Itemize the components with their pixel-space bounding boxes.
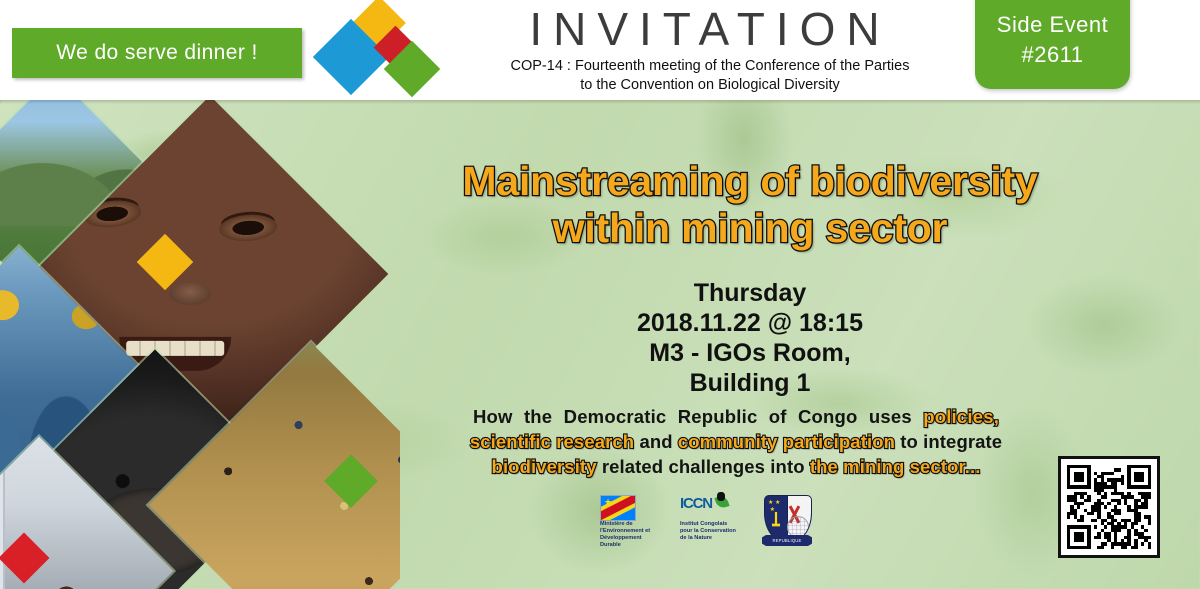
- shield-crest-logo: ★ ★ ★ REPUBLIQUE: [764, 495, 810, 549]
- event-title-line1: Mainstreaming of biodiversity: [370, 158, 1130, 205]
- iccn-mark-icon: ICCN: [680, 495, 726, 521]
- side-event-number: #2611: [1021, 40, 1083, 70]
- highlight-biodiversity: biodiversity: [492, 456, 597, 477]
- torch-icon: [772, 512, 780, 532]
- description-line-2: scientific research and community partic…: [400, 429, 1072, 454]
- cop-subtitle: COP-14 : Fourteenth meeting of the Confe…: [420, 57, 1000, 95]
- gorilla-icon: [717, 492, 725, 501]
- cop-subtitle-line2: to the Convention on Biological Diversit…: [420, 76, 1000, 95]
- highlight-policies: policies,: [923, 406, 999, 427]
- description-line-3: biodiversity related challenges into the…: [400, 454, 1072, 479]
- partner-logos: Ministère de l'Environnement et Développ…: [600, 495, 860, 557]
- invitation-heading: INVITATION: [500, 4, 920, 54]
- cop-subtitle-line1: COP-14 : Fourteenth meeting of the Confe…: [420, 57, 1000, 76]
- description-line-1: How the Democratic Republic of Congo use…: [400, 404, 1072, 429]
- drc-ministry-caption: Ministère de l'Environnement et Développ…: [600, 521, 664, 549]
- event-room: M3 - IGOs Room,: [420, 338, 1080, 368]
- iccn-logo: ICCN Institut Congolais pour la Conserva…: [680, 495, 744, 542]
- event-day: Thursday: [420, 278, 1080, 308]
- photo-collage: [0, 100, 400, 589]
- event-building: Building 1: [420, 368, 1080, 398]
- event-datetime: 2018.11.22 @ 18:15: [420, 308, 1080, 338]
- qr-code-matrix: [1067, 465, 1151, 549]
- description-text: How the Democratic Republic of Congo use…: [473, 406, 923, 427]
- dinner-banner-label: We do serve dinner !: [56, 41, 257, 65]
- crest-ribbon: REPUBLIQUE: [762, 535, 812, 546]
- iccn-acronym: ICCN: [680, 495, 712, 512]
- iccn-caption: Institut Congolais pour la Conservation …: [680, 521, 744, 542]
- highlight-mining-sector: the mining sector...: [810, 456, 981, 477]
- header-shadow: [0, 100, 1200, 104]
- invitation-poster: Mainstreaming of biodiversity within min…: [0, 0, 1200, 589]
- description-text: related challenges into: [597, 456, 810, 477]
- drc-flag-icon: [600, 495, 636, 521]
- side-event-label: Side Event: [997, 10, 1108, 40]
- globe-icon: [787, 516, 809, 538]
- highlight-scientific-research: scientific research: [470, 431, 634, 452]
- qr-code[interactable]: [1058, 456, 1160, 558]
- shield-icon: ★ ★ ★ REPUBLIQUE: [764, 495, 810, 549]
- stars-icon: ★ ★ ★: [768, 500, 780, 514]
- dinner-banner: We do serve dinner !: [12, 28, 302, 78]
- event-description: How the Democratic Republic of Congo use…: [400, 404, 1072, 479]
- drc-ministry-logo: Ministère de l'Environnement et Développ…: [600, 495, 664, 549]
- event-title: Mainstreaming of biodiversity within min…: [370, 158, 1130, 252]
- description-text: and: [634, 431, 678, 452]
- event-schedule: Thursday 2018.11.22 @ 18:15 M3 - IGOs Ro…: [420, 278, 1080, 398]
- highlight-community-participation: community participation: [678, 431, 895, 452]
- description-text: to integrate: [895, 431, 1002, 452]
- side-event-badge: Side Event #2611: [975, 0, 1130, 89]
- event-title-line2: within mining sector: [370, 205, 1130, 252]
